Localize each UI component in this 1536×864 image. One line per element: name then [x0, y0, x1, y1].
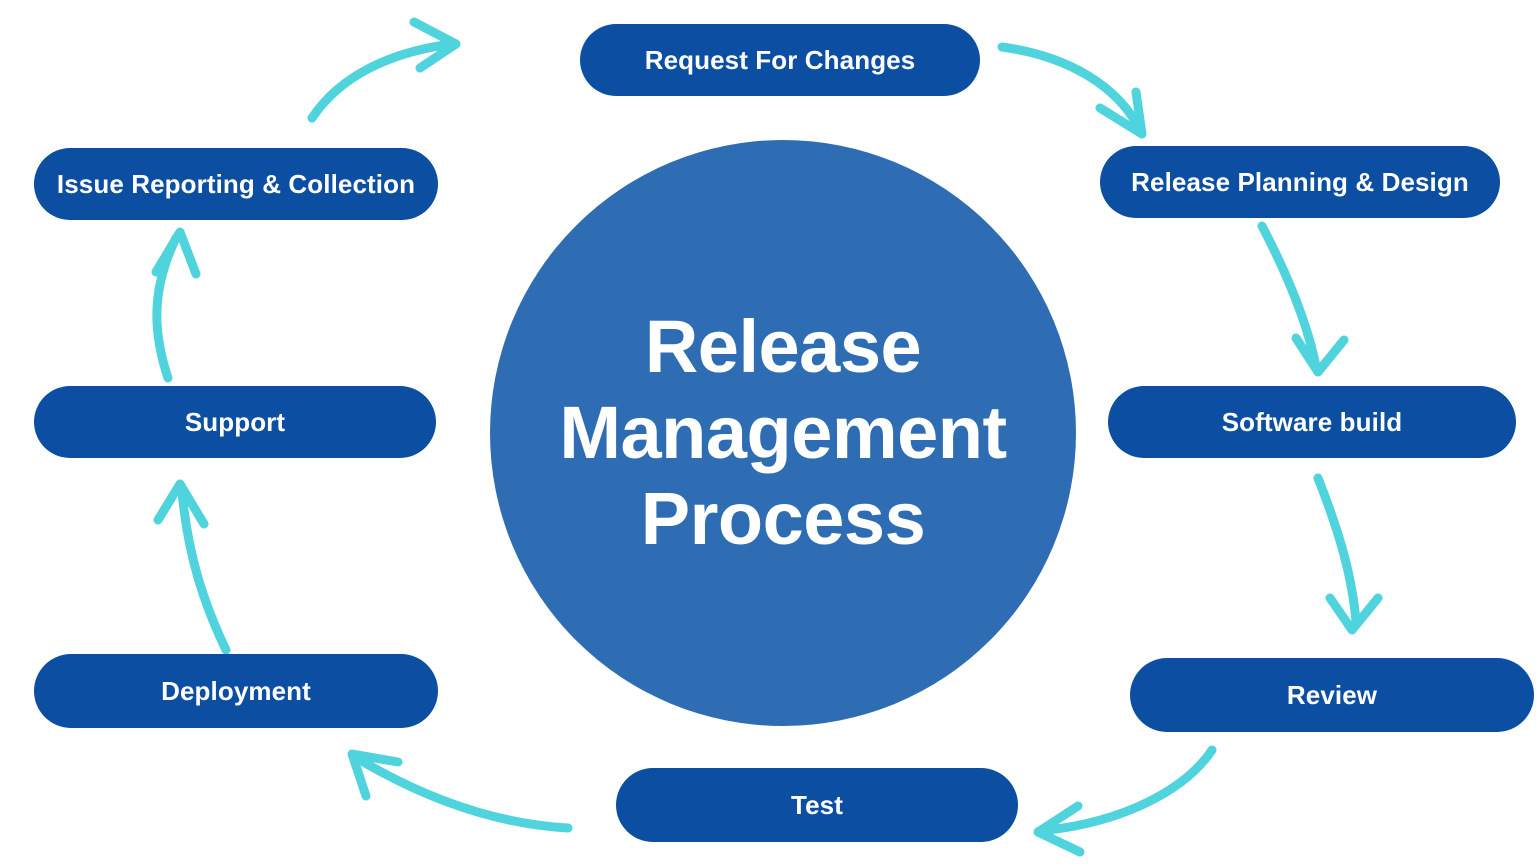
diagram-canvas: Release Management Process Request For C… — [0, 0, 1536, 864]
arrow-test-to-deployment — [352, 754, 568, 828]
node-label-support: Support — [56, 407, 414, 438]
node-review[interactable]: Review — [1130, 658, 1534, 732]
node-label-test: Test — [638, 790, 996, 821]
node-label-deployment: Deployment — [56, 676, 416, 707]
arrow-support-to-issue-reporting — [156, 232, 196, 378]
node-support[interactable]: Support — [34, 386, 436, 458]
arrow-request-for-changes-to-release-planning — [1002, 47, 1142, 134]
arrow-release-planning-to-software-build — [1262, 226, 1344, 372]
node-software-build[interactable]: Software build — [1108, 386, 1516, 458]
node-issue-reporting-collection[interactable]: Issue Reporting & Collection — [34, 148, 438, 220]
node-label-software-build: Software build — [1130, 407, 1494, 438]
node-test[interactable]: Test — [616, 768, 1018, 842]
arrow-deployment-to-support — [158, 484, 226, 650]
node-label-release-planning-design: Release Planning & Design — [1116, 167, 1484, 198]
arrow-issue-reporting-to-request-for-changes — [312, 22, 456, 118]
node-label-issue-reporting-collection: Issue Reporting & Collection — [44, 169, 428, 200]
node-label-request-for-changes: Request For Changes — [602, 45, 958, 76]
node-deployment[interactable]: Deployment — [34, 654, 438, 728]
arrow-software-build-to-review — [1318, 478, 1378, 630]
hub-release-management-process: Release Management Process — [490, 140, 1076, 726]
hub-label: Release Management Process — [523, 304, 1042, 561]
node-label-review: Review — [1152, 680, 1512, 711]
arrow-review-to-test — [1038, 750, 1212, 852]
node-request-for-changes[interactable]: Request For Changes — [580, 24, 980, 96]
node-release-planning-design[interactable]: Release Planning & Design — [1100, 146, 1500, 218]
